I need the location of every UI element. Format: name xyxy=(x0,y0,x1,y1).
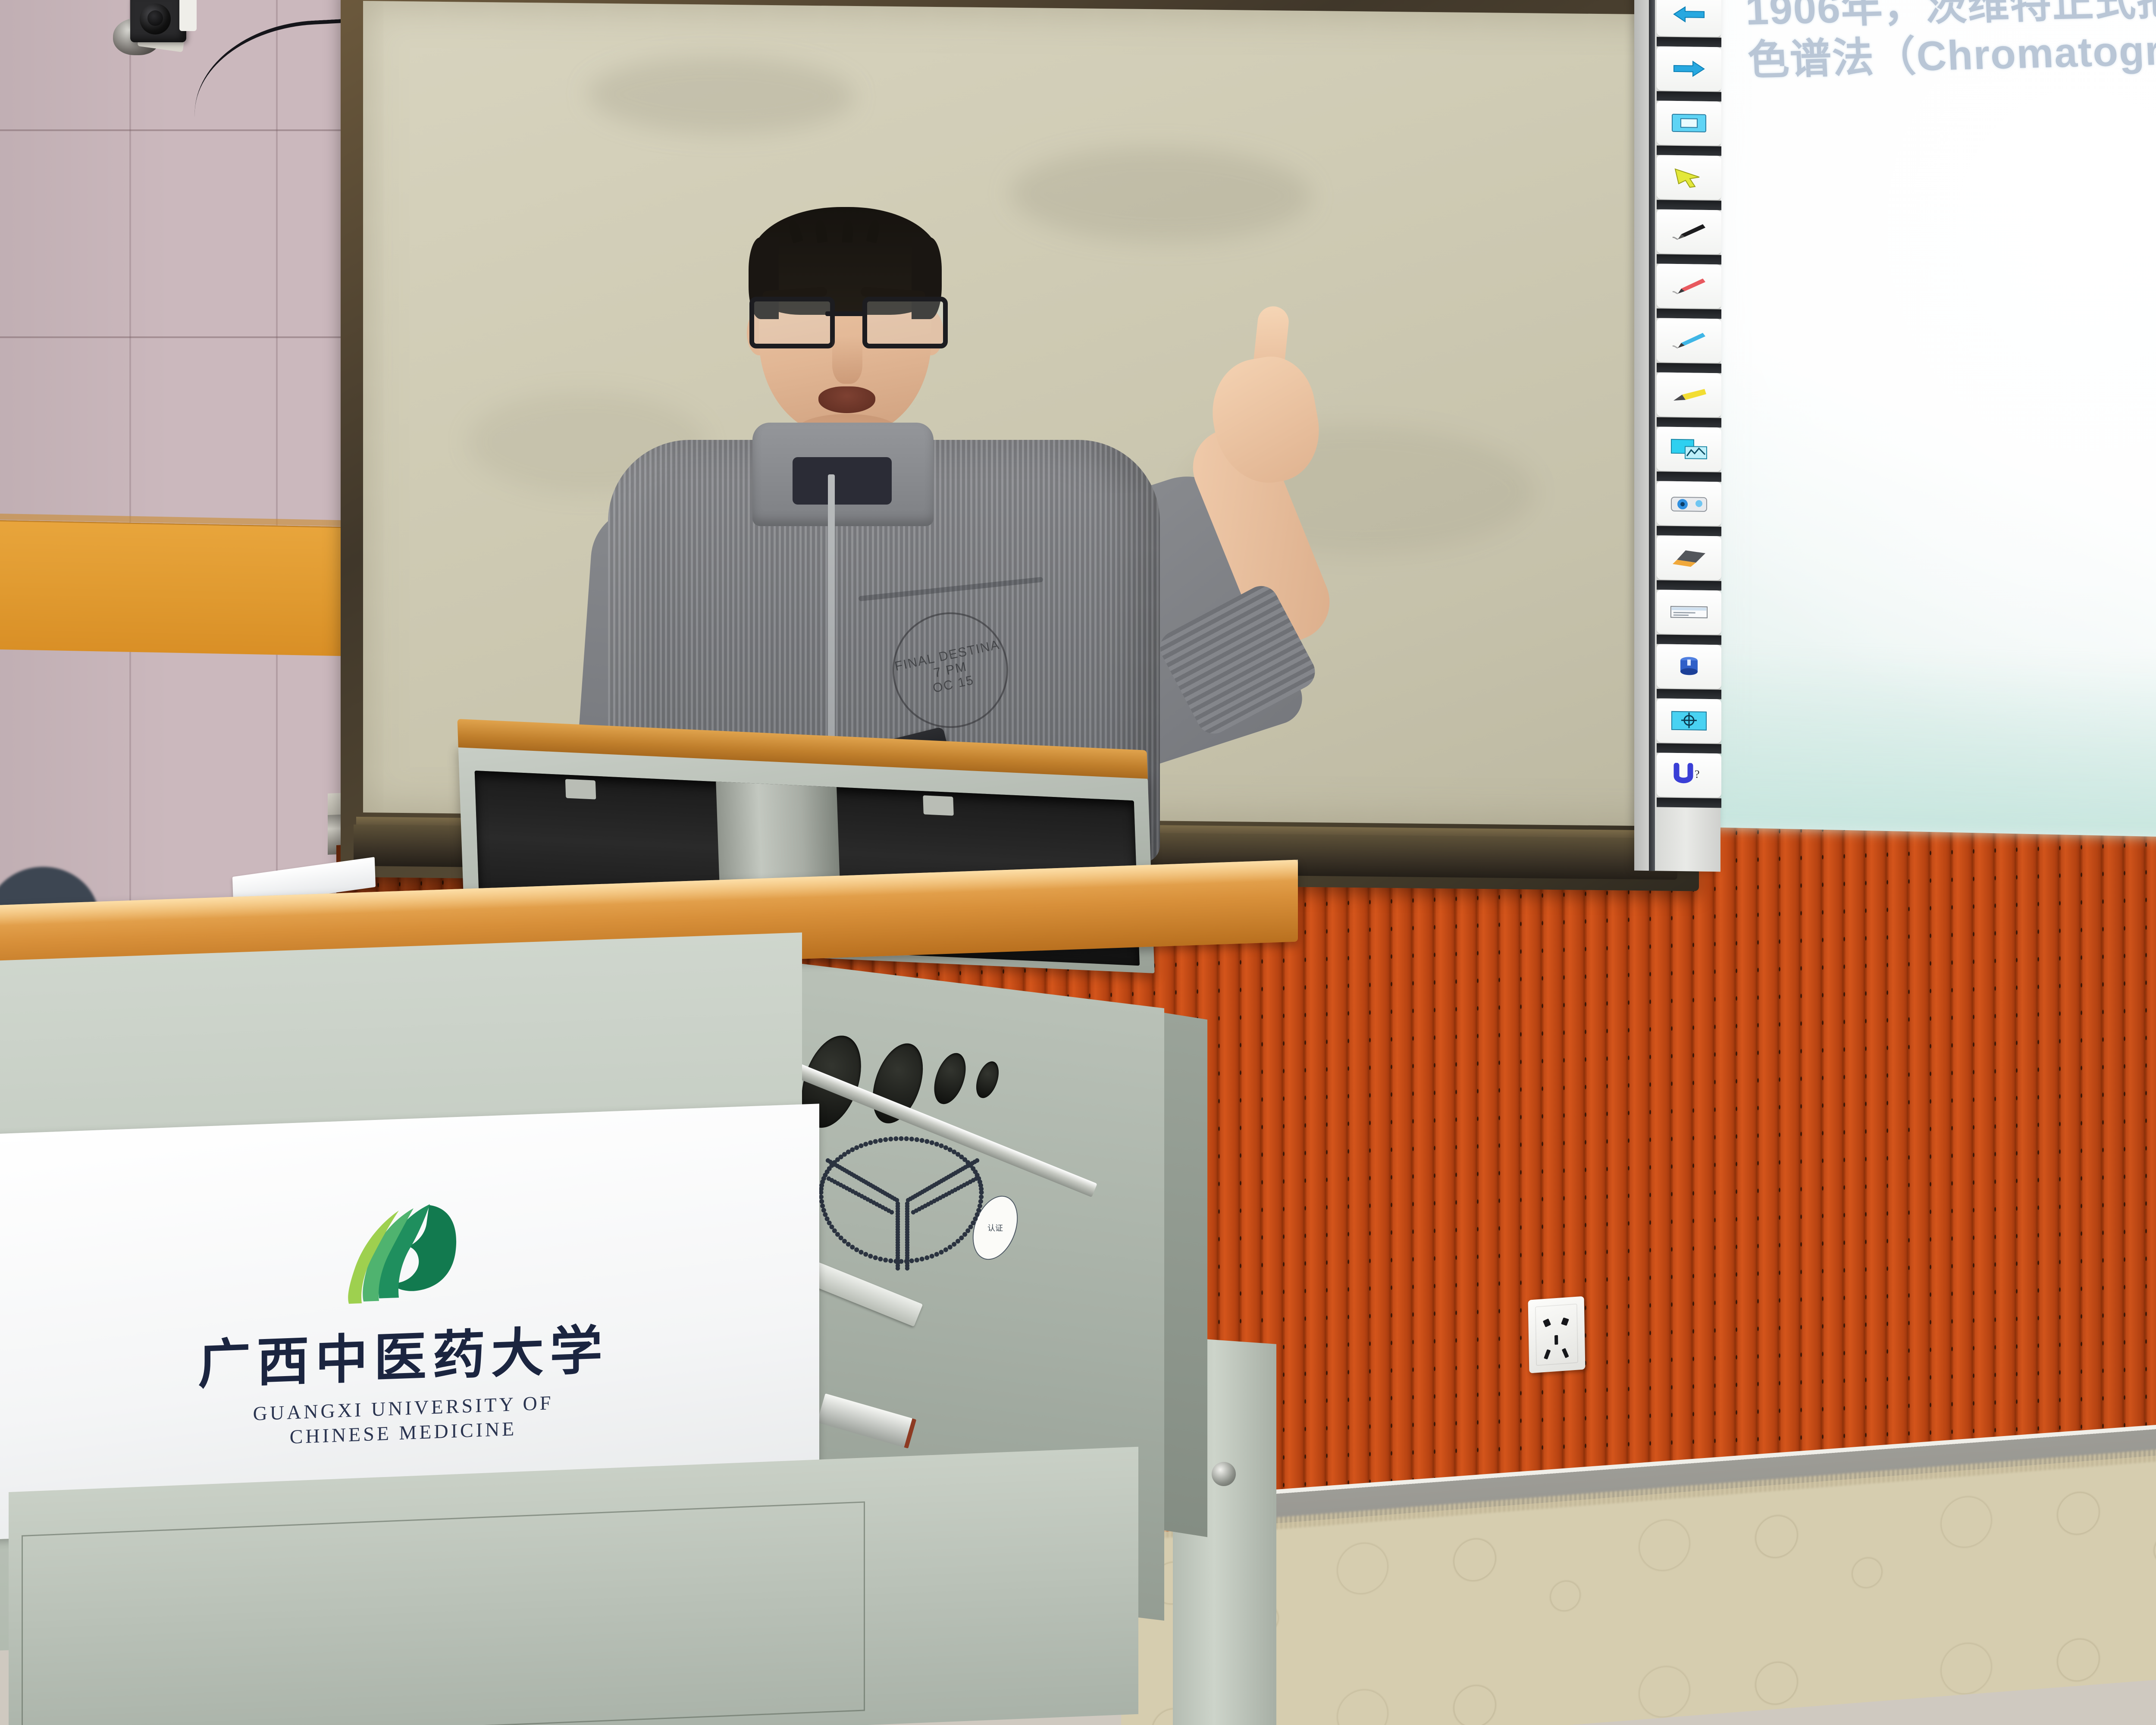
toolbar-pen-red-button[interactable] xyxy=(1657,263,1721,308)
toolbar-separator xyxy=(1657,634,1721,645)
arrow-right-icon xyxy=(1670,56,1708,82)
eraser-icon xyxy=(1670,545,1708,571)
podium-perforated-emblem xyxy=(793,1100,1009,1289)
projection-screen: 1906年，茨维特正式把这种分 色谱法（Chromatography） xyxy=(1695,0,2156,846)
university-leaf-logo-icon xyxy=(321,1195,485,1330)
toolbar-pen-black-button[interactable] xyxy=(1657,209,1721,254)
toolbar-crosshair-button[interactable] xyxy=(1657,698,1721,743)
whiteboard-toolbar[interactable]: ? xyxy=(1634,0,1720,872)
toolbar-select-button[interactable] xyxy=(1657,155,1721,200)
toolbar-rail xyxy=(1649,0,1655,871)
toolbar-separator xyxy=(1657,37,1721,47)
toolbar-separator xyxy=(1657,526,1721,536)
pen-black-icon xyxy=(1670,219,1708,245)
camera-body xyxy=(130,0,186,42)
svg-text:?: ? xyxy=(1695,768,1700,781)
pen-blue-icon xyxy=(1670,328,1708,353)
help-u-icon: ? xyxy=(1670,762,1708,788)
toolbar-slide-button[interactable] xyxy=(1657,100,1721,145)
lecture-hall-photo: 1906年，茨维特正式把这种分 色谱法（Chromatography） xyxy=(0,0,2156,1725)
presenter-mouth xyxy=(818,386,875,413)
toolbar-separator xyxy=(1657,308,1721,319)
camera-lens-icon xyxy=(140,3,171,34)
slide-bottom-image xyxy=(1695,646,2156,847)
university-name-cn: 广西中医药大学 xyxy=(198,1324,608,1392)
toolbar-separator xyxy=(1657,254,1721,264)
toolbar-arrow-right-button[interactable] xyxy=(1657,46,1721,91)
chart-image-icon xyxy=(1670,436,1708,462)
spotlight-icon xyxy=(1670,654,1708,679)
presenter-nose xyxy=(832,336,862,384)
toolbar-camera-button[interactable] xyxy=(1657,481,1721,526)
toolbar-separator xyxy=(1657,417,1721,427)
arrow-left-icon xyxy=(1670,2,1708,27)
podium-base-door[interactable] xyxy=(22,1501,865,1725)
toolbar-help-button[interactable]: ? xyxy=(1657,753,1721,797)
toolbar-separator xyxy=(1657,580,1721,590)
presenter-inner-shirt xyxy=(793,457,892,505)
toolbar-highlighter-button[interactable] xyxy=(1657,372,1721,417)
pen-red-icon xyxy=(1670,273,1708,299)
toolbar-separator xyxy=(1657,91,1721,101)
toolbar-separator xyxy=(1657,743,1721,753)
toolbar-separator xyxy=(1657,471,1721,482)
toolbar-eraser-button[interactable] xyxy=(1657,535,1721,580)
security-camera xyxy=(108,0,190,60)
toolbar-spotlight-button[interactable] xyxy=(1657,644,1721,689)
toolbar-separator xyxy=(1657,200,1721,210)
toolbar-button-list[interactable]: ? xyxy=(1657,0,1721,808)
camera-icon xyxy=(1670,491,1708,516)
toolbar-chart-button[interactable] xyxy=(1657,427,1721,471)
highlighter-icon xyxy=(1670,382,1708,408)
slide-text-block: 1906年，茨维特正式把这种分 色谱法（Chromatography） xyxy=(1745,0,2156,88)
toolbar-separator xyxy=(1657,363,1721,373)
toolbar-pen-blue-button[interactable] xyxy=(1657,318,1721,363)
wall-power-outlet[interactable] xyxy=(1528,1296,1586,1374)
toolbar-separator xyxy=(1657,797,1721,808)
lectern-podium: 认证 广西中医药大学 GUANGXI UNIVERSIT xyxy=(0,759,1457,1725)
window-bar-icon xyxy=(1670,599,1708,625)
crosshair-icon xyxy=(1670,708,1708,734)
toolbar-window-button[interactable] xyxy=(1657,590,1721,634)
toolbar-arrow-left-button[interactable] xyxy=(1657,0,1721,37)
toolbar-separator xyxy=(1657,145,1721,156)
camera-cap xyxy=(179,0,197,31)
podium-knob[interactable] xyxy=(1212,1462,1236,1486)
toolbar-separator xyxy=(1657,689,1721,699)
slide-window-icon xyxy=(1670,110,1708,136)
cursor-arrow-icon xyxy=(1670,165,1708,190)
